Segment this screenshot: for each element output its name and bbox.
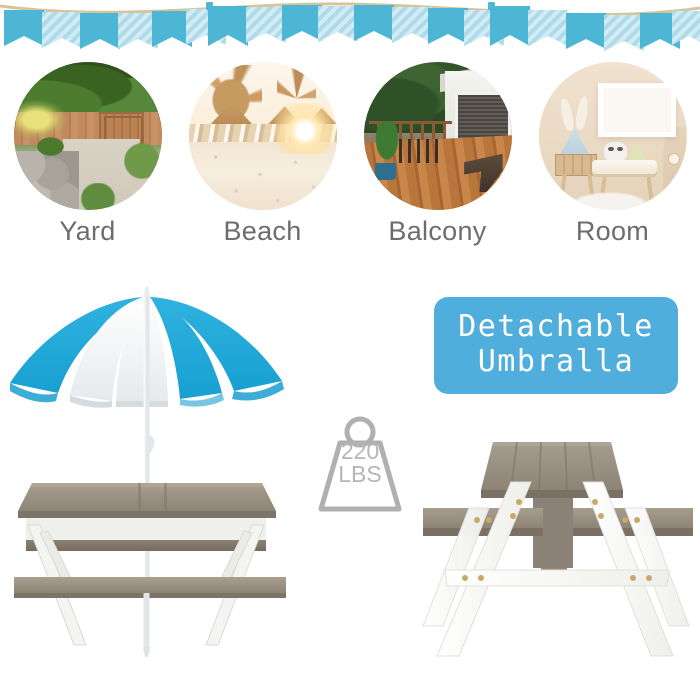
badge-line-1: Detachable (444, 309, 668, 344)
detachable-umbrella-badge: Detachable Umbralla (434, 297, 678, 394)
scene-list: Yard Beach (0, 62, 700, 267)
bunting-banner (0, 0, 700, 58)
balcony-photo (364, 62, 512, 210)
beach-photo (189, 62, 337, 210)
scene-item-yard[interactable]: Yard (12, 62, 164, 245)
table-under-panel (26, 518, 266, 540)
scene-label-room: Room (576, 218, 649, 245)
scene-item-balcony[interactable]: Balcony (362, 62, 514, 245)
scene-item-room[interactable]: Room (537, 62, 689, 245)
kids-picnic-table-with-umbrella (0, 275, 300, 675)
scene-label-beach: Beach (223, 218, 301, 245)
umbrella-finial (144, 287, 150, 298)
badge-line-2: Umbralla (444, 344, 668, 379)
kids-picnic-table-front-view (415, 420, 700, 670)
front-bench (14, 577, 286, 598)
weight-icon (313, 413, 407, 515)
table-top (18, 483, 276, 518)
scene-label-yard: Yard (59, 218, 115, 245)
scene-item-beach[interactable]: Beach (187, 62, 339, 245)
rear-bench (26, 540, 266, 551)
scene-label-balcony: Balcony (388, 218, 486, 245)
room-photo (539, 62, 687, 210)
yard-photo (14, 62, 162, 210)
product-infographic: Yard Beach (0, 0, 700, 700)
